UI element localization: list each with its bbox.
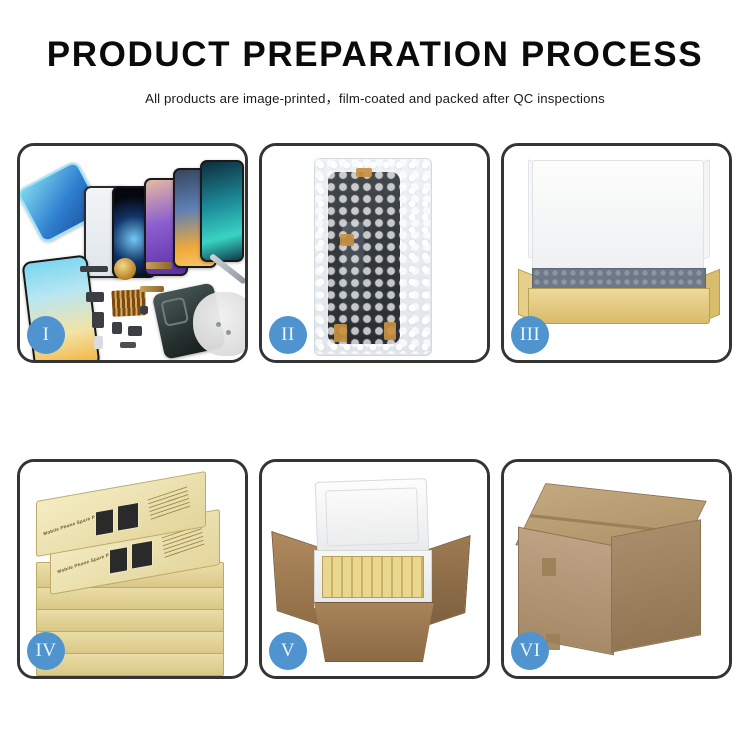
page-title: PRODUCT PREPARATION PROCESS (0, 36, 750, 75)
step-panel-4[interactable]: Mobile Phone Spare Parts Mobile Phone Sp… (17, 459, 248, 679)
step-panel-5[interactable]: V (259, 459, 490, 679)
speaker-coil-icon (114, 258, 136, 280)
step-badge-3: III (511, 316, 549, 354)
screw-icon (226, 330, 231, 335)
box-spec-lines (148, 486, 191, 520)
product-preparation-infographic: PRODUCT PREPARATION PROCESS All products… (0, 0, 750, 750)
tape-patch-icon (542, 558, 556, 576)
packed-boxes-icon (322, 556, 424, 598)
step-1-image: I (20, 146, 245, 360)
step-2-image: II (262, 146, 487, 360)
foam-lid-icon (315, 478, 430, 556)
part-icon (112, 322, 122, 334)
page-subtitle: All products are image-printed，film-coat… (0, 88, 750, 107)
carton-side-icon (611, 519, 701, 652)
carton-front-icon (306, 602, 442, 662)
part-icon (92, 312, 104, 328)
phone-screen-icon (200, 160, 244, 262)
step-badge-1: I (27, 316, 65, 354)
tape-strip-icon (334, 324, 347, 342)
flex-cable-icon (146, 262, 172, 269)
step-badge-2: II (269, 316, 307, 354)
step-6-image: VI (504, 462, 729, 676)
step-5-image: V (262, 462, 487, 676)
step-4-image: Mobile Phone Spare Parts Mobile Phone Sp… (20, 462, 245, 676)
step-3-image: III (504, 146, 729, 360)
box-screen-image (95, 508, 114, 536)
step-badge-6: VI (511, 632, 549, 670)
part-icon (94, 336, 103, 349)
tape-strip-icon (340, 234, 354, 246)
box-screen-image (109, 546, 128, 574)
step-panel-1[interactable]: I (17, 143, 248, 363)
part-icon (80, 266, 108, 272)
flex-cable-icon (140, 286, 164, 292)
step-panel-6[interactable]: VI (501, 459, 732, 679)
flex-cable-icon (120, 342, 136, 348)
box-front-icon (528, 288, 710, 324)
step-panel-2[interactable]: II (259, 143, 490, 363)
step-badge-4: IV (27, 632, 65, 670)
box-screen-image (117, 502, 139, 532)
tape-strip-icon (356, 168, 372, 177)
part-icon (140, 306, 148, 314)
screw-icon (216, 322, 221, 327)
box-screen-image (131, 540, 153, 570)
wrapped-part-icon (328, 172, 400, 344)
header: PRODUCT PREPARATION PROCESS All products… (0, 36, 750, 107)
part-icon (128, 326, 142, 336)
part-icon (86, 292, 104, 302)
tape-strip-icon (384, 322, 396, 340)
box-lid-icon (532, 160, 704, 272)
step-badge-5: V (269, 632, 307, 670)
process-steps-grid: I II (17, 143, 733, 733)
step-panel-3[interactable]: III (501, 143, 732, 363)
